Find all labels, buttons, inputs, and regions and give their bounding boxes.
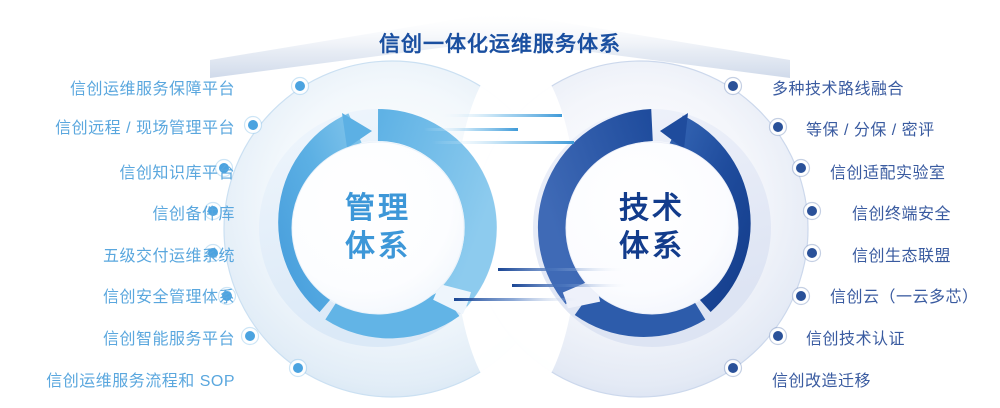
left-item-label[interactable]: 信创运维服务流程和 SOP [0, 367, 235, 391]
right-connector-dot[interactable] [793, 160, 810, 177]
right-item-label[interactable]: 信创改造迁移 [772, 367, 871, 391]
right-item-label[interactable]: 信创云（一云多芯） [830, 283, 979, 307]
left-connector-dot[interactable] [292, 78, 309, 95]
hub-right-line1: 技术 [562, 190, 742, 228]
right-connector-dot[interactable] [770, 328, 787, 345]
left-connector-dot[interactable] [245, 117, 262, 134]
left-item-label[interactable]: 信创备件库 [0, 200, 235, 224]
left-connector-dot[interactable] [290, 360, 307, 377]
left-item-label[interactable]: 信创安全管理体系 [0, 283, 235, 307]
left-item-label[interactable]: 信创知识库平台 [0, 159, 235, 183]
right-item-label[interactable]: 信创生态联盟 [852, 242, 951, 266]
diagram-canvas: 信创一体化运维服务体系 管理 体系 技术 体系 信创运维服务保障平台信创远程 /… [0, 0, 1000, 408]
right-connector-dot[interactable] [770, 119, 787, 136]
right-connector-dot[interactable] [725, 78, 742, 95]
right-item-label[interactable]: 等保 / 分保 / 密评 [806, 116, 935, 140]
left-item-label[interactable]: 信创运维服务保障平台 [0, 75, 235, 99]
right-item-label[interactable]: 信创适配实验室 [830, 159, 946, 183]
right-item-label[interactable]: 信创技术认证 [806, 325, 905, 349]
hub-left-line1: 管理 [288, 190, 468, 228]
hub-left-line2: 体系 [288, 228, 468, 266]
right-connector-dot[interactable] [793, 288, 810, 305]
right-item-label[interactable]: 信创终端安全 [852, 200, 951, 224]
left-item-label[interactable]: 信创智能服务平台 [0, 325, 235, 349]
management-system-hub-label: 管理 体系 [288, 190, 468, 265]
right-connector-dot[interactable] [804, 245, 821, 262]
hub-right-line2: 体系 [562, 228, 742, 266]
left-item-label[interactable]: 五级交付运维系统 [0, 242, 235, 266]
right-connector-dot[interactable] [804, 203, 821, 220]
right-item-label[interactable]: 多种技术路线融合 [772, 75, 904, 99]
left-item-label[interactable]: 信创远程 / 现场管理平台 [0, 114, 235, 138]
left-connector-dot[interactable] [242, 328, 259, 345]
technology-system-hub-label: 技术 体系 [562, 190, 742, 265]
page-title: 信创一体化运维服务体系 [0, 28, 1000, 58]
right-connector-dot[interactable] [725, 360, 742, 377]
